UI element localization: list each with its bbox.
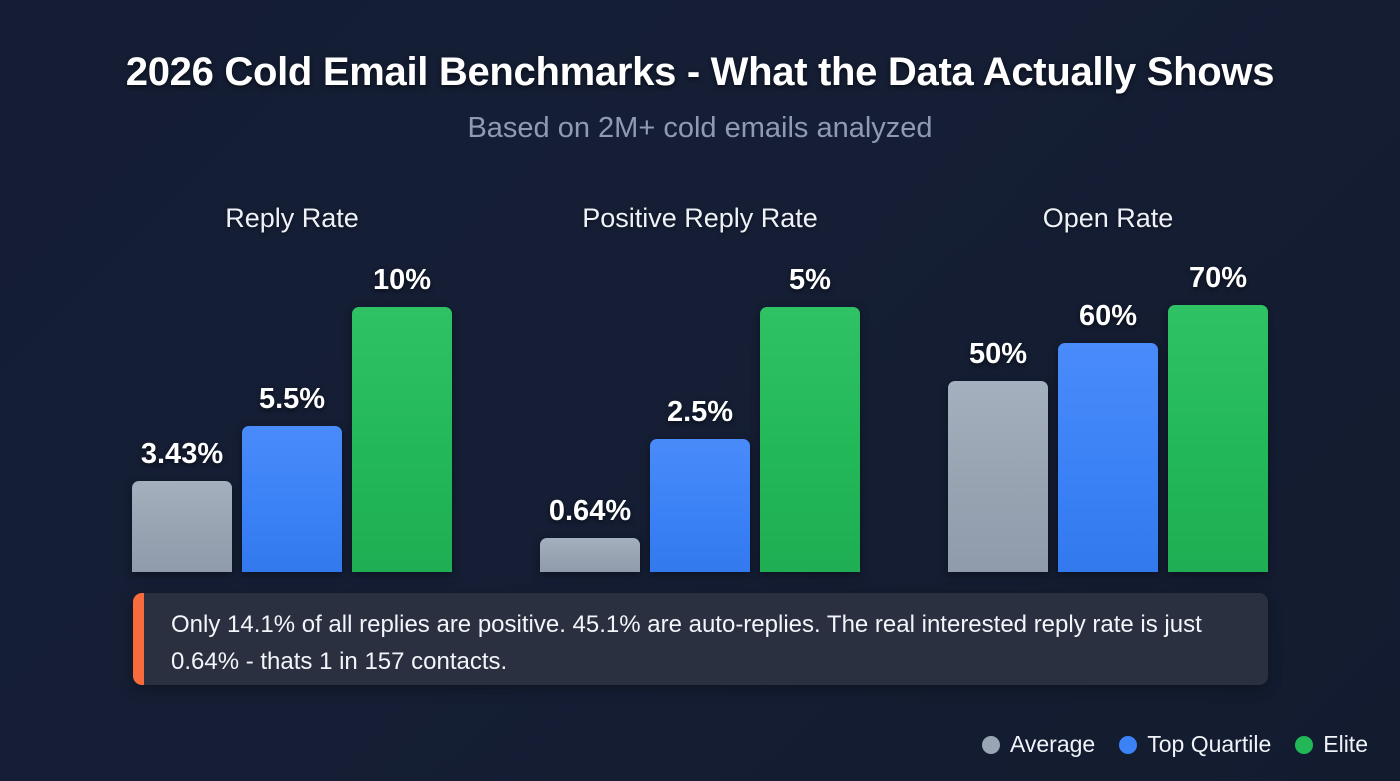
bar-2-top[interactable] (650, 439, 750, 572)
bar-1-avg[interactable] (132, 481, 232, 572)
group-label-3: Open Rate (948, 203, 1268, 234)
legend-label: Elite (1323, 731, 1368, 758)
bar-value-label-1-avg: 3.43% (112, 438, 252, 471)
bar-2-elite[interactable] (760, 307, 860, 572)
circle-swatch-icon (1295, 736, 1313, 754)
bar-1-top[interactable] (242, 426, 342, 572)
circle-swatch-icon (982, 736, 1000, 754)
callout-box: Only 14.1% of all replies are positive. … (133, 593, 1268, 685)
bar-3-top[interactable] (1058, 343, 1158, 572)
bar-1-elite[interactable] (352, 307, 452, 572)
bar-value-label-2-elite: 5% (740, 264, 880, 297)
callout-text: Only 14.1% of all replies are positive. … (171, 606, 1241, 680)
bar-value-label-3-elite: 70% (1148, 262, 1288, 295)
bar-value-label-3-top: 60% (1038, 300, 1178, 333)
callout-accent-bar (133, 593, 144, 685)
bar-value-label-3-avg: 50% (928, 338, 1068, 371)
chart-canvas: 2026 Cold Email Benchmarks - What the Da… (0, 0, 1400, 781)
chart-legend: AverageTop QuartileElite (982, 731, 1368, 758)
bar-2-avg[interactable] (540, 538, 640, 572)
circle-swatch-icon (1119, 736, 1137, 754)
group-label-1: Reply Rate (132, 203, 452, 234)
bar-value-label-1-top: 5.5% (222, 383, 362, 416)
bar-3-avg[interactable] (948, 381, 1048, 572)
legend-item-elite[interactable]: Elite (1295, 731, 1368, 758)
bar-value-label-2-avg: 0.64% (520, 495, 660, 528)
bar-value-label-2-top: 2.5% (630, 396, 770, 429)
bar-3-elite[interactable] (1168, 305, 1268, 572)
group-label-2: Positive Reply Rate (540, 203, 860, 234)
legend-label: Average (1010, 731, 1095, 758)
legend-label: Top Quartile (1147, 731, 1271, 758)
legend-item-top-quartile[interactable]: Top Quartile (1119, 731, 1271, 758)
legend-item-average[interactable]: Average (982, 731, 1095, 758)
bar-value-label-1-elite: 10% (332, 264, 472, 297)
